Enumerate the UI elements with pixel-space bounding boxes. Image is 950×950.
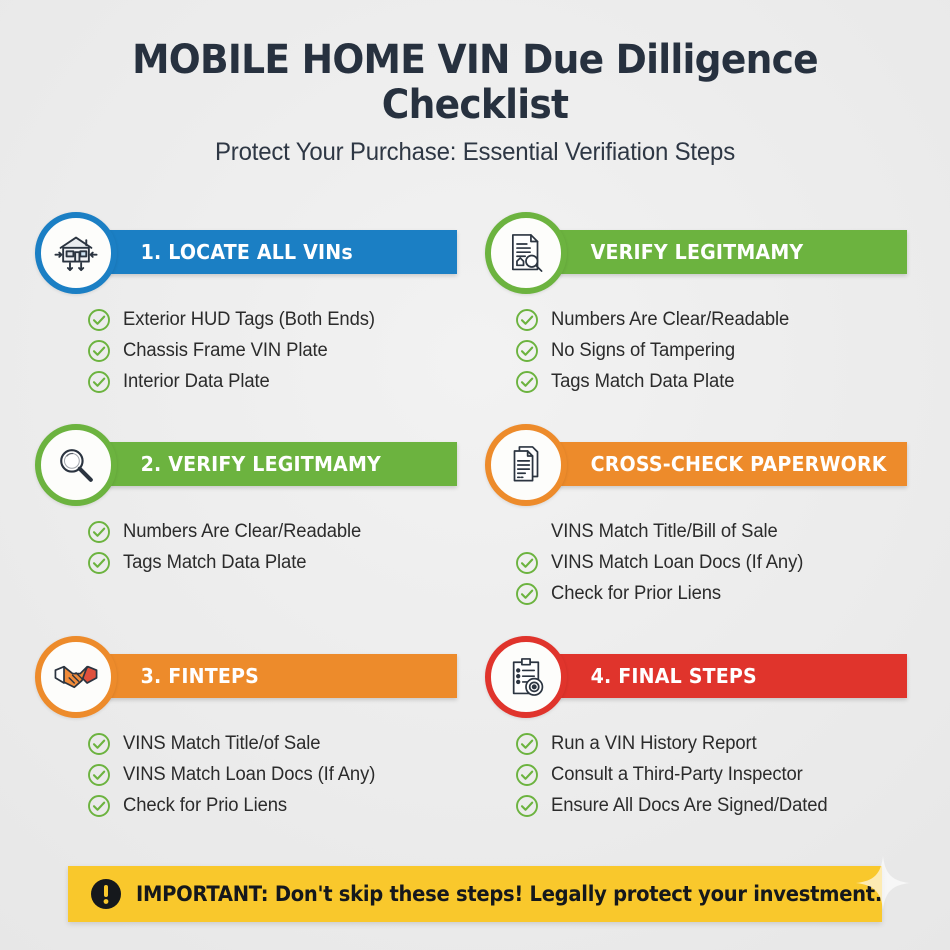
checklist-item[interactable]: Run a VIN History Report [515,728,915,759]
checklist-item[interactable]: Numbers Are Clear/Readable [515,304,915,335]
check-circle-icon [87,551,111,575]
section-title-bar[interactable]: 3. FINTEPS [95,654,457,698]
header: MOBILE HOME VIN Due Dilligence Checklist… [0,0,950,167]
check-circle-icon [515,339,539,363]
checklist: VINS Match Title/of Sale VINS Match Loan… [87,728,465,821]
checklist: Run a VIN History Report Consult a Third… [515,728,915,821]
checklist-item-label: Run a VIN History Report [551,733,757,755]
check-circle-icon [87,520,111,544]
section-header-row: 1. LOCATE ALL VINs [35,212,465,300]
section-title-bar[interactable]: CROSS-CHECK PAPERWORK [545,442,907,486]
sections-grid: 1. LOCATE ALL VINs Exterior HUD Tags (Bo… [0,212,950,848]
checklist-item-label: Numbers Are Clear/Readable [123,521,361,543]
handshake-icon [35,636,117,718]
check-circle-icon [87,339,111,363]
checklist-item[interactable]: Check for Prio Liens [87,790,465,821]
checklist-item[interactable]: VINS Match Loan Docs (If Any) [87,759,465,790]
section-locate-all-vins: 1. LOCATE ALL VINs Exterior HUD Tags (Bo… [35,212,465,424]
checklist-item-label: VINS Match Loan Docs (If Any) [123,764,375,786]
checklist-item-label: Interior Data Plate [123,371,270,393]
section-title-label: 4. FINAL STEPS [545,664,757,688]
section-header-row: 2. VERIFY LEGITMAMY [35,424,465,512]
mobile-home-icon [35,212,117,294]
checklist-item[interactable]: VINS Match Title/of Sale [87,728,465,759]
checklist-item[interactable]: Ensure All Docs Are Signed/Dated [515,790,915,821]
section-title-label: CROSS-CHECK PAPERWORK [545,452,887,476]
check-circle-icon [515,794,539,818]
check-circle-icon [87,763,111,787]
section-cross-check-paperwork: CROSS-CHECK PAPERWORK VINS Match Title/B… [485,424,915,636]
section-title-bar[interactable]: 2. VERIFY LEGITMAMY [95,442,457,486]
section-header-row: CROSS-CHECK PAPERWORK [485,424,915,512]
important-banner: IMPORTANT: Don't skip these steps! Legal… [68,866,882,922]
check-circle-icon [515,732,539,756]
checklist-item[interactable]: Check for Prior Liens [515,578,915,609]
check-circle-icon [87,732,111,756]
checklist-item[interactable]: VINS Match Title/Bill of Sale [515,516,915,547]
stacked-documents-icon [485,424,567,506]
checklist: Exterior HUD Tags (Both Ends) Chassis Fr… [87,304,465,397]
checklist-item-label: Numbers Are Clear/Readable [551,309,789,331]
checklist-item-label: Tags Match Data Plate [551,371,734,393]
section-header-row: 3. FINTEPS [35,636,465,724]
section-verify-legitmamy: 2. VERIFY LEGITMAMY Numbers Are Clear/Re… [35,424,465,636]
checklist-item-label: VINS Match Loan Docs (If Any) [551,552,803,574]
checklist-item-label: VINS Match Title/Bill of Sale [551,521,778,543]
magnifier-icon [35,424,117,506]
page-subtitle: Protect Your Purchase: Essential Verifia… [19,138,931,167]
section-title-label: VERIFY LEGITMAMY [545,240,803,264]
exclamation-circle-icon [90,878,122,910]
checklist-item[interactable]: Chassis Frame VIN Plate [87,335,465,366]
checklist: Numbers Are Clear/Readable Tags Match Da… [87,516,465,578]
check-circle-icon [87,308,111,332]
important-banner-text: IMPORTANT: Don't skip these steps! Legal… [136,882,882,906]
checklist-item[interactable]: Consult a Third-Party Inspector [515,759,915,790]
checklist-item-label: Check for Prior Liens [551,583,721,605]
clipboard-seal-icon [485,636,567,718]
check-circle-icon [87,794,111,818]
check-circle-icon [515,551,539,575]
infographic-canvas: MOBILE HOME VIN Due Dilligence Checklist… [0,0,950,950]
section-header-row: 4. FINAL STEPS [485,636,915,724]
document-magnifier-icon [485,212,567,294]
check-circle-icon [515,308,539,332]
checklist-item[interactable]: No Signs of Tampering [515,335,915,366]
section-title-label: 1. LOCATE ALL VINs [95,240,353,264]
section-verify-legitmamy-top: VERIFY LEGITMAMY Numbers Are Clear/Reada… [485,212,915,424]
checklist-item-label: Check for Prio Liens [123,795,287,817]
page-title: MOBILE HOME VIN Due Dilligence Checklist [29,38,922,128]
checklist-item[interactable]: VINS Match Loan Docs (If Any) [515,547,915,578]
section-title-label: 2. VERIFY LEGITMAMY [95,452,381,476]
checklist-item[interactable]: Tags Match Data Plate [87,547,465,578]
check-circle-icon [515,370,539,394]
section-title-bar[interactable]: VERIFY LEGITMAMY [545,230,907,274]
checklist-item[interactable]: Interior Data Plate [87,366,465,397]
checklist-item-label: No Signs of Tampering [551,340,735,362]
checklist-item[interactable]: Tags Match Data Plate [515,366,915,397]
checklist-item[interactable]: Exterior HUD Tags (Both Ends) [87,304,465,335]
section-final-steps: 4. FINAL STEPS Run a VIN History Report … [485,636,915,848]
section-title-label: 3. FINTEPS [95,664,259,688]
checklist-item-label: Exterior HUD Tags (Both Ends) [123,309,375,331]
checklist-item-label: Chassis Frame VIN Plate [123,340,328,362]
section-finteps: 3. FINTEPS VINS Match Title/of Sale VINS… [35,636,465,848]
checklist-item-label: Tags Match Data Plate [123,552,306,574]
section-header-row: VERIFY LEGITMAMY [485,212,915,300]
section-title-bar[interactable]: 4. FINAL STEPS [545,654,907,698]
checklist-item-label: Ensure All Docs Are Signed/Dated [551,795,828,817]
checklist: Numbers Are Clear/Readable No Signs of T… [515,304,915,397]
checklist-item-label: VINS Match Title/of Sale [123,733,320,755]
checklist-item-label: Consult a Third-Party Inspector [551,764,803,786]
check-circle-icon [515,582,539,606]
checklist-item[interactable]: Numbers Are Clear/Readable [87,516,465,547]
check-circle-icon [515,763,539,787]
section-title-bar[interactable]: 1. LOCATE ALL VINs [95,230,457,274]
check-circle-icon [87,370,111,394]
checklist: VINS Match Title/Bill of Sale VINS Match… [515,516,915,609]
